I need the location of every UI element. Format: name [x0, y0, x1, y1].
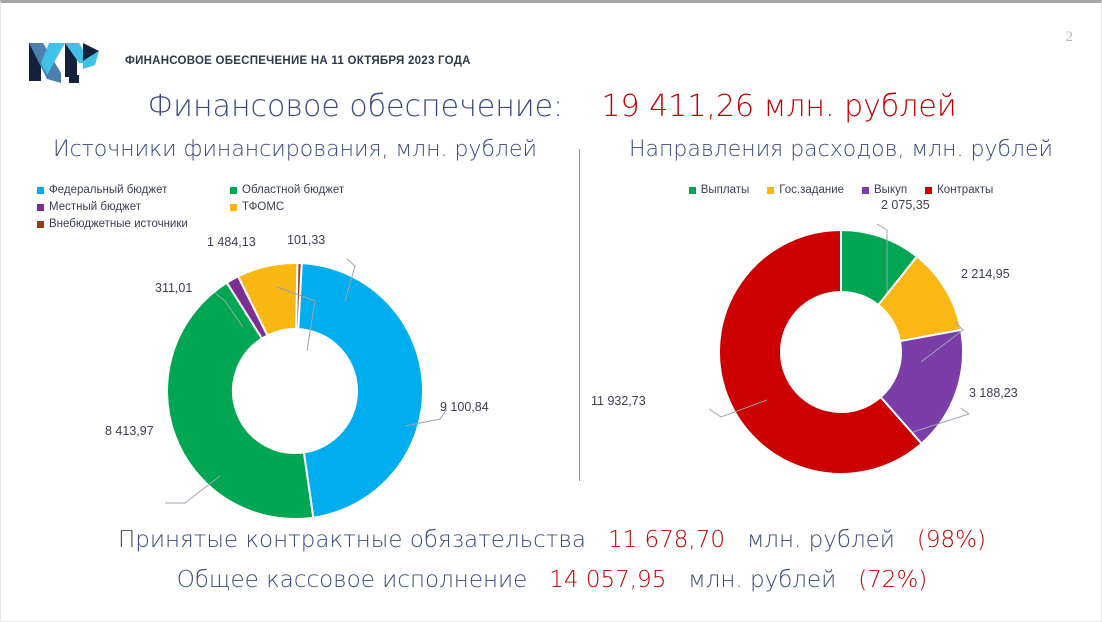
footer-line-1-value: 11 678,70 [608, 527, 725, 553]
legend-swatch-icon [689, 187, 696, 194]
sources-donut-chart: 1 484,13 101,33 311,01 9 100,84 8 413,97 [15, 241, 575, 531]
panel-divider [579, 149, 580, 481]
page-title: Финансовое обеспечение: 19 411,26 млн. р… [1, 89, 1102, 124]
footer-line-2: Общее кассовое исполнение 14 057,95 млн.… [1, 567, 1102, 593]
legend-item[interactable]: Контракты [925, 184, 993, 196]
legend-swatch-icon [925, 187, 932, 194]
sources-slices [167, 263, 423, 519]
legend-swatch-icon [37, 187, 44, 194]
sources-chart-title: Источники финансирования, млн. рублей [15, 137, 575, 162]
legend-item[interactable]: Гос.задание [767, 184, 844, 196]
expenses-legend: Выплаты Гос.задание Выкуп Контракты [591, 184, 1091, 196]
legend-item[interactable]: Федеральный бюджет [37, 184, 230, 196]
data-label: 1 484,13 [207, 235, 256, 249]
legend-swatch-icon [37, 204, 44, 211]
legend-label: Федеральный бюджет [49, 184, 167, 196]
legend-label: Внебюджетные источники [49, 218, 188, 230]
legend-label: Контракты [937, 184, 993, 196]
legend-swatch-icon [37, 221, 44, 228]
expenses-slices [719, 230, 963, 474]
data-label: 311,01 [155, 281, 192, 295]
data-label: 11 932,73 [591, 394, 646, 408]
footer-line-2-unit: млн. рублей [688, 567, 836, 593]
legend-item[interactable]: Выплаты [689, 184, 750, 196]
footer-line-1-percent: (98%) [917, 527, 986, 553]
legend-label: Местный бюджет [49, 201, 141, 213]
slide-footer: Принятые контрактные обязательства 11 67… [1, 527, 1102, 607]
company-logo-icon [27, 39, 111, 83]
data-label: 101,33 [287, 233, 325, 247]
legend-item[interactable]: ТФОМС [230, 201, 423, 213]
footer-line-2-value: 14 057,95 [549, 567, 666, 593]
data-label: 9 100,84 [440, 400, 489, 414]
legend-label: Гос.задание [779, 184, 844, 196]
footer-line-2-percent: (72%) [858, 567, 927, 593]
footer-line-1: Принятые контрактные обязательства 11 67… [1, 527, 1102, 553]
data-label: 8 413,97 [105, 424, 154, 438]
title-label: Финансовое обеспечение: [147, 89, 563, 124]
slide-canvas: 2 ФИНАНСОВОЕ ОБЕСПЕЧЕНИЕ НА 11 ОКТЯБРЯ 2… [0, 0, 1102, 622]
sources-panel: Источники финансирования, млн. рублей Фе… [15, 137, 575, 531]
footer-line-1-unit: млн. рублей [747, 527, 895, 553]
legend-swatch-icon [230, 187, 237, 194]
legend-swatch-icon [230, 204, 237, 211]
legend-item[interactable]: Внебюджетные источники [37, 218, 230, 230]
page-number: 2 [1066, 29, 1074, 46]
footer-line-1-label: Принятые контрактные обязательства [118, 527, 586, 553]
expenses-chart-title: Направления расходов, млн. рублей [591, 137, 1091, 162]
slide-header: ФИНАНСОВОЕ ОБЕСПЕЧЕНИЕ НА 11 ОКТЯБРЯ 202… [27, 39, 471, 83]
header-caption: ФИНАНСОВОЕ ОБЕСПЕЧЕНИЕ НА 11 ОКТЯБРЯ 202… [125, 55, 471, 67]
expenses-donut-chart: 2 075,35 2 214,95 3 188,23 11 932,73 [591, 202, 1091, 492]
legend-label: Областной бюджет [242, 184, 344, 196]
legend-label: Выкуп [874, 184, 907, 196]
legend-item[interactable]: Местный бюджет [37, 201, 230, 213]
pie-slice[interactable] [298, 263, 423, 518]
legend-swatch-icon [767, 187, 774, 194]
legend-swatch-icon [862, 187, 869, 194]
legend-label: ТФОМС [242, 201, 284, 213]
expenses-panel: Направления расходов, млн. рублей Выплат… [591, 137, 1091, 492]
data-label: 3 188,23 [969, 386, 1018, 400]
title-value: 19 411,26 млн. рублей [601, 89, 956, 124]
footer-line-2-label: Общее кассовое исполнение [177, 567, 528, 593]
data-label: 2 075,35 [881, 198, 930, 212]
legend-item[interactable]: Выкуп [862, 184, 907, 196]
legend-label: Выплаты [701, 184, 750, 196]
data-label: 2 214,95 [961, 267, 1010, 281]
sources-legend: Федеральный бюджет Областной бюджет Мест… [15, 184, 575, 235]
legend-item[interactable]: Областной бюджет [230, 184, 423, 196]
